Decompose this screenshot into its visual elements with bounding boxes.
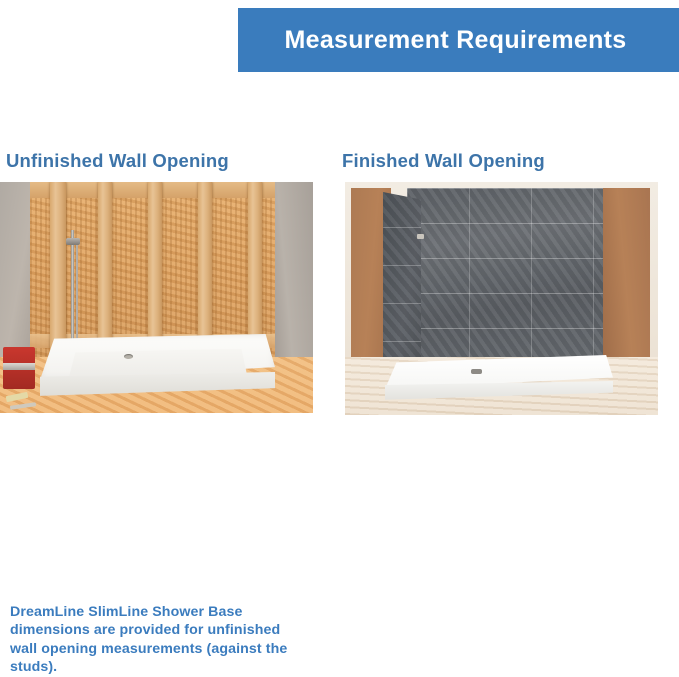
tiled-side-wall (383, 192, 421, 380)
tiled-back-wall (407, 188, 603, 364)
section-title-finished: Finished Wall Opening (342, 150, 670, 172)
slimline-shower-base (40, 334, 275, 400)
photo-finished-wall-opening (345, 182, 658, 415)
panel-finished: Finished Wall Opening DreamLine Shower D… (340, 150, 670, 415)
toolbox-handle (3, 363, 35, 370)
slimline-shower-base (385, 355, 613, 401)
red-toolbox (3, 347, 35, 389)
section-title-unfinished: Unfinished Wall Opening (6, 150, 324, 172)
drain-icon (471, 369, 482, 374)
shower-valve-icon (417, 234, 424, 239)
page-title: Measurement Requirements (284, 26, 626, 55)
caption-unfinished: DreamLine SlimLine Shower Base dimension… (10, 603, 310, 677)
pipe-fitting (66, 238, 80, 245)
drain-icon (124, 354, 133, 359)
panel-unfinished: Unfinished Wall Opening DreamLine SlimLi… (4, 150, 324, 413)
header-banner: Measurement Requirements (238, 8, 679, 72)
photo-unfinished-wall-opening (0, 182, 313, 413)
caption-unfinished-text: DreamLine SlimLine Shower Base dimension… (10, 604, 287, 675)
